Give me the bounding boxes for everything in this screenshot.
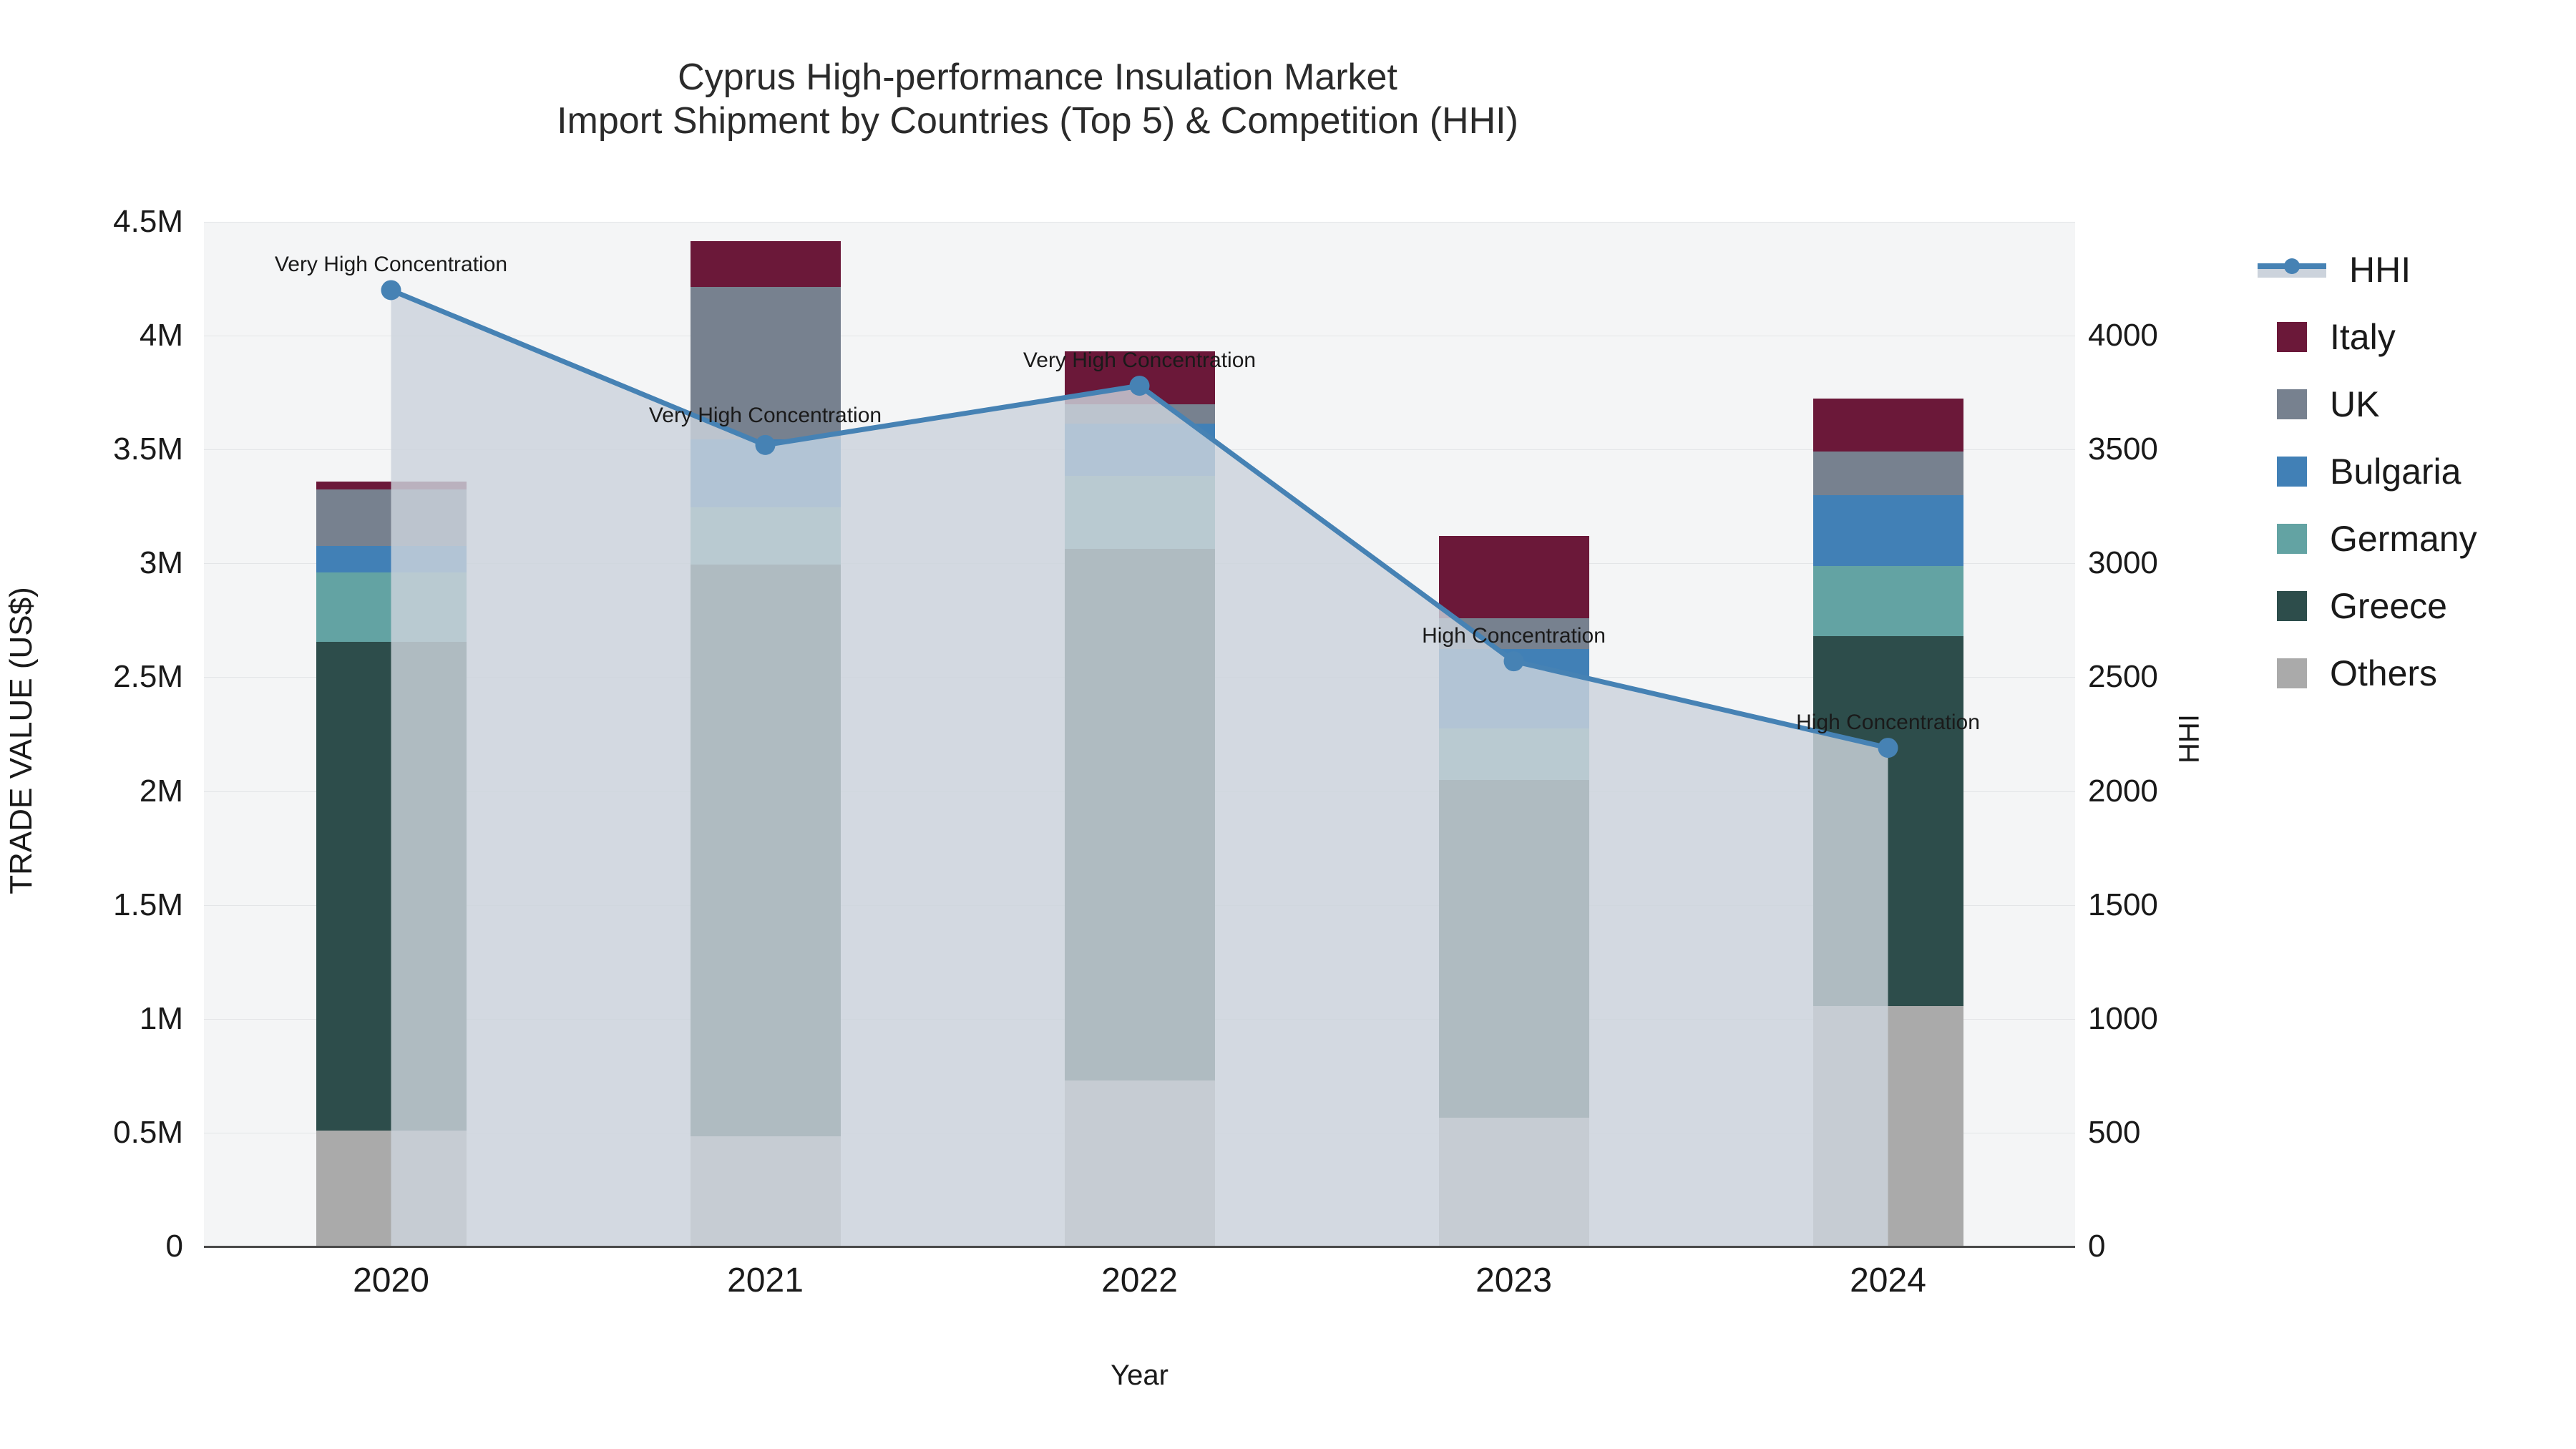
legend-swatch-italy <box>2277 322 2307 352</box>
y-axis-right-title: HHI <box>2174 596 2206 882</box>
legend-label-greece: Greece <box>2330 585 2447 627</box>
plot-area: Very High ConcentrationVery High Concent… <box>204 222 2075 1246</box>
y-tick-left-4M: 4M <box>140 318 183 353</box>
hhi-point-2020[interactable] <box>381 280 401 300</box>
legend-item-germany[interactable]: Germany <box>2277 505 2576 572</box>
legend-item-hhi[interactable]: HHI <box>2277 236 2576 303</box>
hhi-point-2023[interactable] <box>1504 651 1524 671</box>
legend-label-germany: Germany <box>2330 518 2477 560</box>
legend-item-others[interactable]: Others <box>2277 640 2576 707</box>
hhi-point-2022[interactable] <box>1130 376 1150 396</box>
hhi-point-2021[interactable] <box>756 435 776 455</box>
legend-swatch-others <box>2277 658 2307 688</box>
y-tick-right-3000: 3000 <box>2088 545 2158 581</box>
legend-label-hhi: HHI <box>2349 249 2411 291</box>
legend-swatch-germany <box>2277 524 2307 554</box>
y-tick-left-1M: 1M <box>140 1001 183 1037</box>
y-tick-right-500: 500 <box>2088 1115 2140 1151</box>
x-tick-2023: 2023 <box>1475 1261 1552 1300</box>
annotation-2020: Very High Concentration <box>275 253 507 277</box>
y-tick-right-4000: 4000 <box>2088 318 2158 353</box>
y-tick-right-1500: 1500 <box>2088 887 2158 923</box>
y-tick-right-2000: 2000 <box>2088 774 2158 809</box>
legend-swatch-uk <box>2277 389 2307 419</box>
y-tick-left-0.5M: 0.5M <box>113 1115 183 1151</box>
chart-canvas: Cyprus High-performance Insulation Marke… <box>0 0 2576 1449</box>
y-tick-left-4.5M: 4.5M <box>113 204 183 240</box>
legend-line-marker-icon <box>2258 255 2326 285</box>
legend-item-italy[interactable]: Italy <box>2277 303 2576 371</box>
x-axis-line <box>204 1246 2075 1248</box>
y-tick-right-3500: 3500 <box>2088 431 2158 467</box>
chart-subtitle: Import Shipment by Countries (Top 5) & C… <box>0 99 2075 143</box>
y-tick-left-2.5M: 2.5M <box>113 659 183 695</box>
legend-item-uk[interactable]: UK <box>2277 371 2576 438</box>
legend-item-greece[interactable]: Greece <box>2277 572 2576 640</box>
hhi-line-layer <box>204 222 2075 1246</box>
annotation-2022: Very High Concentration <box>1023 348 1256 373</box>
chart-legend: HHIItalyUKBulgariaGermanyGreeceOthers <box>2277 236 2576 707</box>
x-tick-2024: 2024 <box>1850 1261 1926 1300</box>
y-axis-right-ticks: 05001000150020002500300035004000 <box>2088 0 2253 1449</box>
legend-label-uk: UK <box>2330 384 2379 425</box>
y-tick-left-1.5M: 1.5M <box>113 887 183 923</box>
legend-label-bulgaria: Bulgaria <box>2330 451 2461 492</box>
hhi-point-2024[interactable] <box>1878 738 1898 758</box>
y-tick-right-0: 0 <box>2088 1229 2105 1264</box>
y-axis-left-title: TRADE VALUE (US$) <box>4 383 39 1098</box>
y-tick-left-3.5M: 3.5M <box>113 431 183 467</box>
y-tick-right-1000: 1000 <box>2088 1001 2158 1037</box>
y-tick-right-2500: 2500 <box>2088 659 2158 695</box>
annotation-2023: High Concentration <box>1422 624 1606 648</box>
legend-swatch-greece <box>2277 591 2307 621</box>
hhi-area-fill <box>391 290 1888 1246</box>
chart-title-block: Cyprus High-performance Insulation Marke… <box>0 56 2075 144</box>
legend-swatch-bulgaria <box>2277 457 2307 487</box>
x-tick-2022: 2022 <box>1101 1261 1178 1300</box>
legend-label-italy: Italy <box>2330 316 2396 358</box>
chart-title: Cyprus High-performance Insulation Marke… <box>0 56 2075 99</box>
x-tick-2021: 2021 <box>727 1261 804 1300</box>
y-tick-left-2M: 2M <box>140 774 183 809</box>
x-tick-2020: 2020 <box>353 1261 429 1300</box>
legend-item-bulgaria[interactable]: Bulgaria <box>2277 438 2576 505</box>
y-tick-left-3M: 3M <box>140 545 183 581</box>
annotation-2021: Very High Concentration <box>649 404 882 428</box>
legend-label-others: Others <box>2330 653 2437 694</box>
annotation-2024: High Concentration <box>1796 711 1980 735</box>
y-tick-left-0: 0 <box>166 1229 183 1264</box>
x-axis-title: Year <box>204 1360 2075 1392</box>
